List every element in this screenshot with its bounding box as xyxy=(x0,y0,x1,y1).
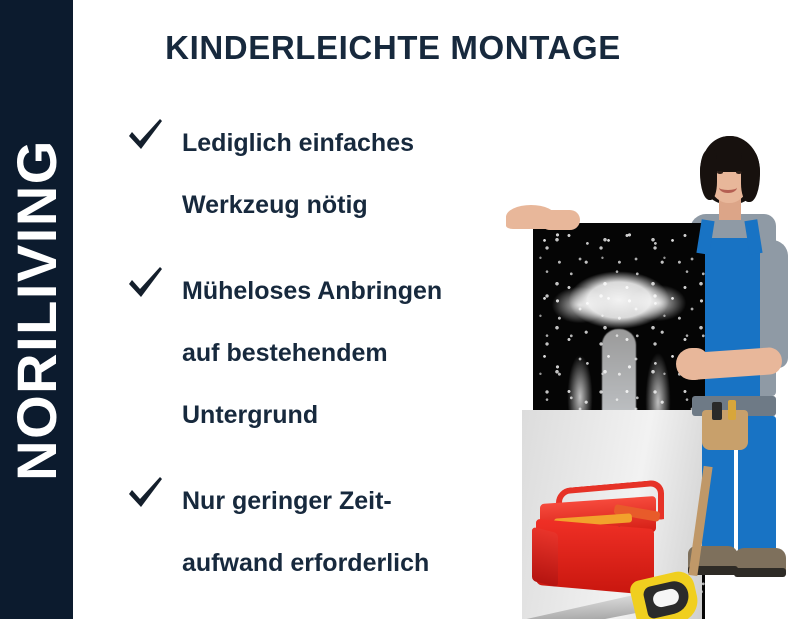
tool-pouch xyxy=(702,410,748,450)
hair-left xyxy=(700,150,717,200)
list-item: Nur geringer Zeit- aufwand erforderlich xyxy=(126,470,506,594)
checkmark-icon xyxy=(126,116,166,156)
benefit-line: Untergrund xyxy=(182,384,506,446)
hand-upper xyxy=(506,205,556,229)
benefit-line: aufwand erforderlich xyxy=(182,532,506,594)
checkmark-icon xyxy=(126,264,166,304)
product-photo xyxy=(500,110,799,619)
benefit-text: Nur geringer Zeit- aufwand erforderlich xyxy=(182,470,506,594)
pouch-tool-yellow xyxy=(728,400,736,420)
benefit-line: Müheloses Anbringen xyxy=(182,260,506,322)
eye-right xyxy=(736,171,742,174)
list-item: Müheloses Anbringen auf bestehendem Unte… xyxy=(126,260,506,446)
benefit-line: auf bestehendem xyxy=(182,322,506,384)
benefit-line: Nur geringer Zeit- xyxy=(182,470,506,532)
sole-right xyxy=(734,568,786,577)
benefit-line: Werkzeug nötig xyxy=(182,174,506,236)
promo-graphic: NORILIVING KINDERLEICHTE MONTAGE Ledigli… xyxy=(0,0,799,619)
hair-right xyxy=(741,150,760,202)
benefit-list: Lediglich einfaches Werkzeug nötig Mühel… xyxy=(126,112,506,618)
benefit-line: Lediglich einfaches xyxy=(182,112,506,174)
hand-lower xyxy=(676,348,708,380)
page-title: KINDERLEICHTE MONTAGE xyxy=(73,30,713,66)
smile xyxy=(719,182,737,193)
benefit-text: Lediglich einfaches Werkzeug nötig xyxy=(182,112,506,236)
checkmark-icon xyxy=(126,474,166,514)
list-item: Lediglich einfaches Werkzeug nötig xyxy=(126,112,506,236)
brand-sidebar: NORILIVING xyxy=(0,0,73,619)
eye-left xyxy=(717,171,723,174)
brand-name: NORILIVING xyxy=(9,139,65,481)
pouch-tool-dark xyxy=(712,402,722,420)
benefit-text: Müheloses Anbringen auf bestehendem Unte… xyxy=(182,260,506,446)
handsaw xyxy=(525,565,705,619)
